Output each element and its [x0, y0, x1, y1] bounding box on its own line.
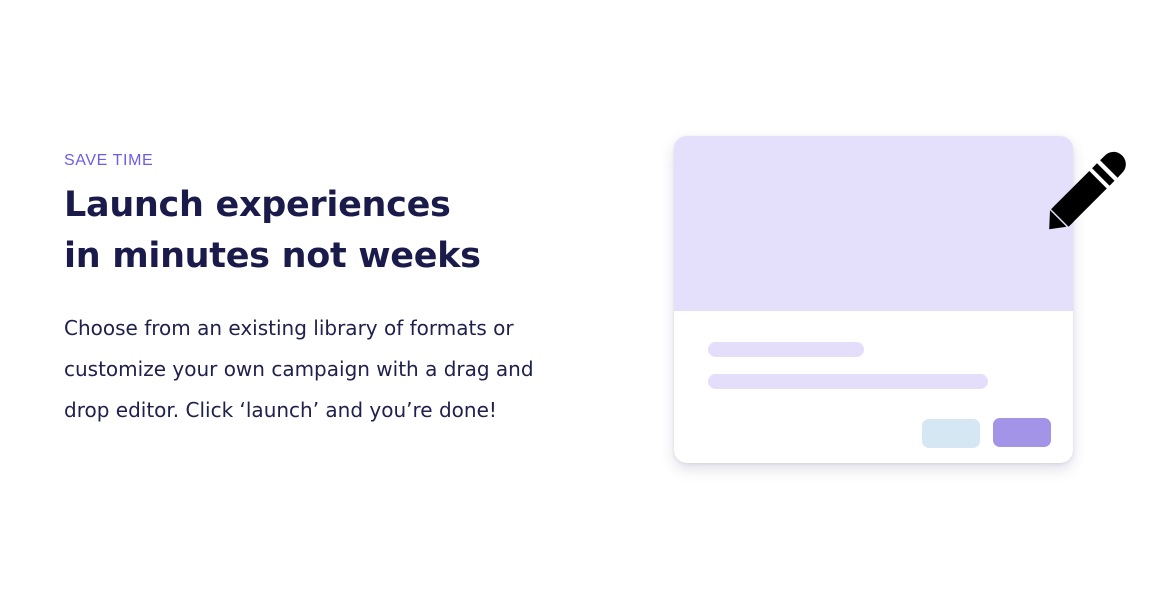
editor-card-mockup	[674, 136, 1073, 463]
skeleton-text-line-2	[708, 374, 988, 389]
feature-illustration	[674, 136, 1073, 463]
feature-text-column: SAVE TIME Launch experiences in minutes …	[64, 150, 604, 431]
card-primary-button[interactable]	[993, 418, 1051, 447]
section-eyebrow: SAVE TIME	[64, 150, 604, 172]
skeleton-text-line-1	[708, 342, 864, 357]
card-header-band	[674, 136, 1073, 311]
page-title: Launch experiences in minutes not weeks	[64, 180, 484, 282]
feature-section: SAVE TIME Launch experiences in minutes …	[0, 0, 1162, 600]
section-body-text: Choose from an existing library of forma…	[64, 308, 574, 431]
card-secondary-button[interactable]	[922, 419, 980, 448]
